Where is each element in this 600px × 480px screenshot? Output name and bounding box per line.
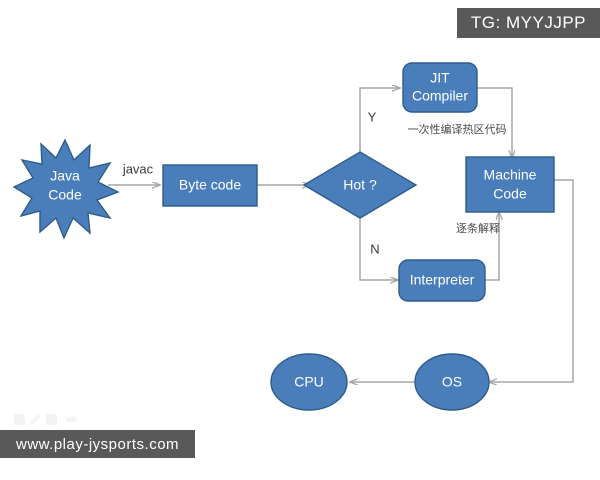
edge-hot-yes <box>360 88 400 156</box>
diagram-canvas: Java Code Byte code Hot ? JIT Compiler I… <box>0 0 600 480</box>
flowchart-svg: Java Code Byte code Hot ? JIT Compiler I… <box>0 0 600 480</box>
machine-code-shape <box>466 157 554 212</box>
node-byte-code[interactable]: Byte code <box>163 165 257 206</box>
node-cpu[interactable]: CPU <box>271 354 347 410</box>
node-machine-code[interactable]: Machine Code <box>466 157 554 212</box>
edge-label-yes: Y <box>368 109 377 124</box>
os-shape <box>415 354 489 410</box>
watermark-badge: www.play-jysports.com <box>0 430 195 458</box>
edge-label-no: N <box>370 241 379 256</box>
cpu-shape <box>271 354 347 410</box>
node-interpreter[interactable]: Interpreter <box>399 260 485 301</box>
diamond-shape <box>304 152 416 218</box>
pen-icon <box>30 414 41 425</box>
node-hot-decision[interactable]: Hot ? <box>304 152 416 218</box>
jit-compiler-shape <box>403 63 477 112</box>
node-os[interactable]: OS <box>415 354 489 410</box>
edge-label-jit-to-machine: 一次性编译热区代码 <box>408 122 507 136</box>
faint-toolbar-icons <box>14 413 77 426</box>
node-jit-compiler[interactable]: JIT Compiler <box>403 63 477 112</box>
square-icon <box>46 414 57 425</box>
interpreter-shape <box>399 260 485 301</box>
edge-label-javac: javac <box>122 161 154 176</box>
wave-icon <box>66 417 77 422</box>
tag-badge: TG: MYYJJPP <box>457 8 600 38</box>
star-shape <box>14 140 118 238</box>
edge-label-interpreter-to-machine: 逐条解释 <box>456 221 500 235</box>
dot-icon <box>14 414 25 425</box>
node-java-code[interactable]: Java Code <box>14 140 118 238</box>
byte-code-shape <box>163 165 257 206</box>
